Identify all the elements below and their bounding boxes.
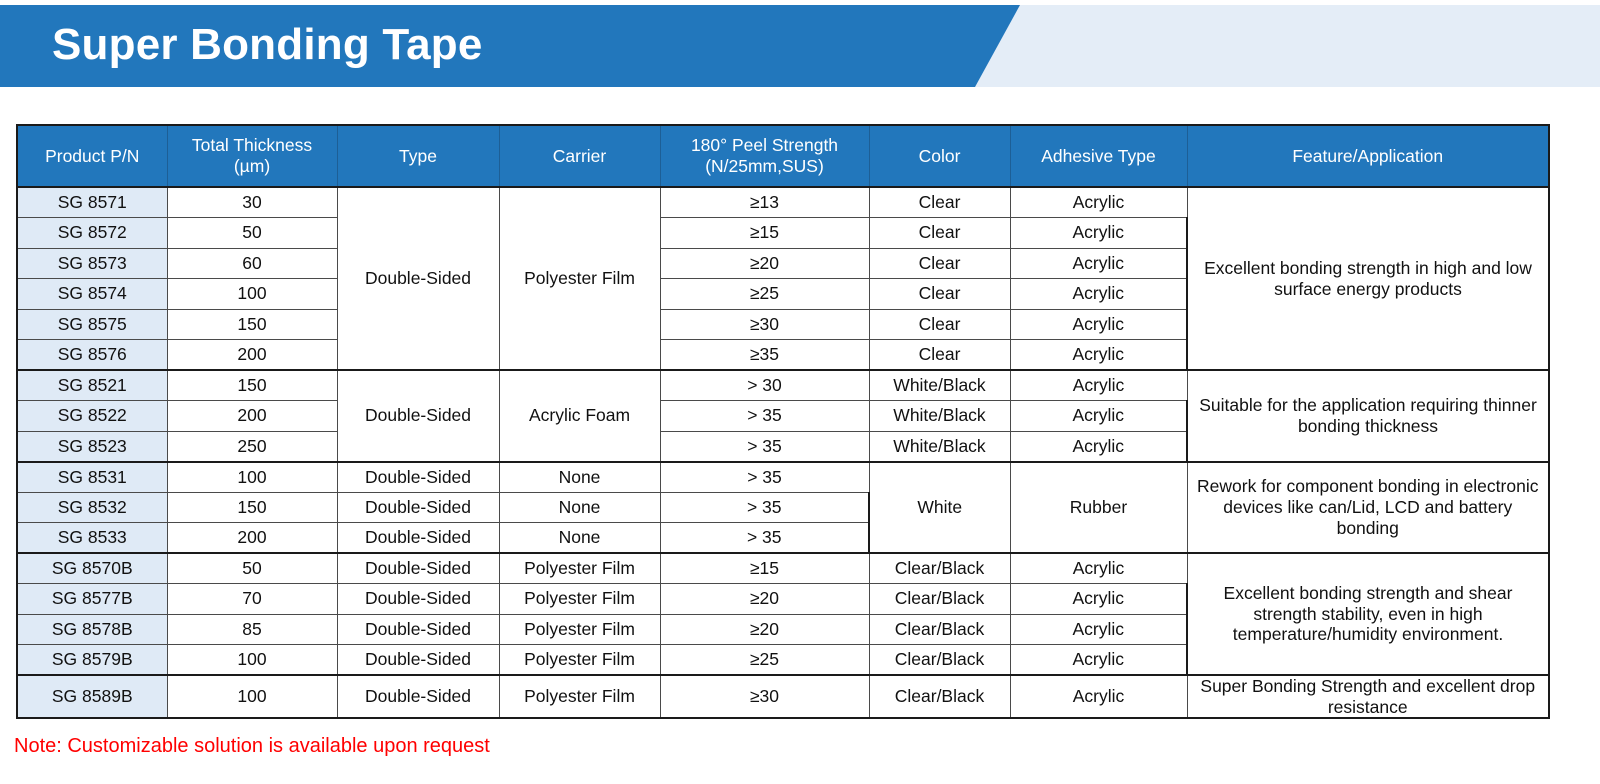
cell-adhesive: Rubber (1010, 462, 1187, 554)
cell-peel-strength: ≥35 (660, 340, 869, 371)
cell-thickness: 85 (167, 614, 337, 645)
cell-product-pn: SG 8573 (17, 248, 167, 279)
cell-product-pn: SG 8572 (17, 218, 167, 249)
cell-type: Double-Sided (337, 370, 499, 462)
column-header-color: Color (869, 125, 1010, 187)
specification-table: Product P/N Total Thickness (µm) Type Ca… (16, 124, 1550, 719)
cell-feature: Excellent bonding strength in high and l… (1187, 187, 1549, 370)
column-header-peel-strength: 180° Peel Strength (N/25mm,SUS) (660, 125, 869, 187)
cell-peel-strength: ≥25 (660, 645, 869, 676)
cell-peel-strength: ≥13 (660, 187, 869, 218)
cell-product-pn: SG 8531 (17, 462, 167, 493)
cell-peel-strength: ≥15 (660, 218, 869, 249)
cell-color: White/Black (869, 431, 1010, 462)
cell-color: Clear/Black (869, 675, 1010, 718)
cell-adhesive: Acrylic (1010, 675, 1187, 718)
cell-color: Clear (869, 279, 1010, 310)
footnote-text: Note: Customizable solution is available… (14, 735, 490, 758)
cell-carrier: Polyester Film (499, 187, 660, 370)
column-header-total-thickness: Total Thickness (µm) (167, 125, 337, 187)
cell-thickness: 250 (167, 431, 337, 462)
cell-product-pn: SG 8522 (17, 401, 167, 432)
cell-peel-strength: > 35 (660, 401, 869, 432)
cell-thickness: 200 (167, 523, 337, 554)
cell-color: White/Black (869, 401, 1010, 432)
cell-adhesive: Acrylic (1010, 584, 1187, 615)
cell-color: Clear/Black (869, 645, 1010, 676)
cell-peel-strength: ≥15 (660, 553, 869, 584)
cell-color: White/Black (869, 370, 1010, 401)
cell-carrier: None (499, 492, 660, 523)
cell-product-pn: SG 8575 (17, 309, 167, 340)
cell-color: Clear/Black (869, 614, 1010, 645)
cell-product-pn: SG 8570B (17, 553, 167, 584)
cell-adhesive: Acrylic (1010, 309, 1187, 340)
cell-thickness: 150 (167, 309, 337, 340)
cell-product-pn: SG 8523 (17, 431, 167, 462)
table-header-row: Product P/N Total Thickness (µm) Type Ca… (17, 125, 1549, 187)
cell-adhesive: Acrylic (1010, 279, 1187, 310)
cell-thickness: 70 (167, 584, 337, 615)
cell-type: Double-Sided (337, 675, 499, 718)
table-body: SG 8571 30 Double-Sided Polyester Film ≥… (17, 187, 1549, 718)
cell-carrier: None (499, 462, 660, 493)
cell-thickness: 50 (167, 553, 337, 584)
cell-thickness: 150 (167, 492, 337, 523)
cell-color: Clear/Black (869, 584, 1010, 615)
cell-adhesive: Acrylic (1010, 370, 1187, 401)
cell-product-pn: SG 8521 (17, 370, 167, 401)
cell-type: Double-Sided (337, 584, 499, 615)
table-row: SG 8571 30 Double-Sided Polyester Film ≥… (17, 187, 1549, 218)
cell-type: Double-Sided (337, 614, 499, 645)
cell-thickness: 100 (167, 675, 337, 718)
cell-feature: Excellent bonding strength and shear str… (1187, 553, 1549, 675)
cell-peel-strength: ≥30 (660, 675, 869, 718)
cell-product-pn: SG 8571 (17, 187, 167, 218)
cell-thickness: 150 (167, 370, 337, 401)
cell-peel-strength: > 30 (660, 370, 869, 401)
cell-color: Clear/Black (869, 553, 1010, 584)
cell-adhesive: Acrylic (1010, 431, 1187, 462)
page-header-banner: Super Bonding Tape (0, 0, 1600, 92)
cell-product-pn: SG 8577B (17, 584, 167, 615)
table-header: Product P/N Total Thickness (µm) Type Ca… (17, 125, 1549, 187)
cell-thickness: 200 (167, 340, 337, 371)
cell-carrier: Polyester Film (499, 553, 660, 584)
cell-color: Clear (869, 187, 1010, 218)
table-row: SG 8570B 50 Double-Sided Polyester Film … (17, 553, 1549, 584)
cell-carrier: Polyester Film (499, 584, 660, 615)
cell-type: Double-Sided (337, 492, 499, 523)
cell-peel-strength: ≥20 (660, 248, 869, 279)
table-row: SG 8531 100 Double-Sided None > 35 White… (17, 462, 1549, 493)
table-row: SG 8521 150 Double-Sided Acrylic Foam > … (17, 370, 1549, 401)
column-header-carrier: Carrier (499, 125, 660, 187)
column-header-adhesive-type: Adhesive Type (1010, 125, 1187, 187)
cell-product-pn: SG 8589B (17, 675, 167, 718)
cell-thickness: 50 (167, 218, 337, 249)
column-header-type: Type (337, 125, 499, 187)
cell-carrier: Polyester Film (499, 614, 660, 645)
cell-thickness: 30 (167, 187, 337, 218)
column-header-product-pn: Product P/N (17, 125, 167, 187)
cell-product-pn: SG 8576 (17, 340, 167, 371)
cell-color: White (869, 462, 1010, 554)
cell-thickness: 60 (167, 248, 337, 279)
page-title: Super Bonding Tape (52, 14, 483, 76)
cell-peel-strength: > 35 (660, 523, 869, 554)
cell-peel-strength: ≥25 (660, 279, 869, 310)
cell-feature: Rework for component bonding in electron… (1187, 462, 1549, 554)
cell-adhesive: Acrylic (1010, 187, 1187, 218)
cell-color: Clear (869, 248, 1010, 279)
specification-table-container: Product P/N Total Thickness (µm) Type Ca… (16, 124, 1548, 719)
cell-product-pn: SG 8578B (17, 614, 167, 645)
cell-adhesive: Acrylic (1010, 553, 1187, 584)
cell-carrier: Polyester Film (499, 645, 660, 676)
cell-adhesive: Acrylic (1010, 248, 1187, 279)
cell-thickness: 100 (167, 462, 337, 493)
cell-adhesive: Acrylic (1010, 218, 1187, 249)
cell-type: Double-Sided (337, 462, 499, 493)
cell-feature: Suitable for the application requiring t… (1187, 370, 1549, 462)
cell-adhesive: Acrylic (1010, 340, 1187, 371)
cell-type: Double-Sided (337, 645, 499, 676)
cell-adhesive: Acrylic (1010, 401, 1187, 432)
cell-adhesive: Acrylic (1010, 614, 1187, 645)
cell-carrier: None (499, 523, 660, 554)
cell-adhesive: Acrylic (1010, 645, 1187, 676)
cell-color: Clear (869, 218, 1010, 249)
cell-product-pn: SG 8574 (17, 279, 167, 310)
cell-type: Double-Sided (337, 553, 499, 584)
cell-thickness: 100 (167, 279, 337, 310)
cell-peel-strength: ≥30 (660, 309, 869, 340)
cell-type: Double-Sided (337, 187, 499, 370)
cell-thickness: 200 (167, 401, 337, 432)
cell-product-pn: SG 8579B (17, 645, 167, 676)
cell-peel-strength: > 35 (660, 462, 869, 493)
cell-peel-strength: > 35 (660, 492, 869, 523)
cell-product-pn: SG 8533 (17, 523, 167, 554)
cell-feature: Super Bonding Strength and excellent dro… (1187, 675, 1549, 718)
cell-peel-strength: ≥20 (660, 614, 869, 645)
cell-color: Clear (869, 309, 1010, 340)
cell-peel-strength: > 35 (660, 431, 869, 462)
cell-carrier: Polyester Film (499, 675, 660, 718)
cell-product-pn: SG 8532 (17, 492, 167, 523)
cell-carrier: Acrylic Foam (499, 370, 660, 462)
cell-thickness: 100 (167, 645, 337, 676)
column-header-feature-application: Feature/Application (1187, 125, 1549, 187)
cell-color: Clear (869, 340, 1010, 371)
cell-type: Double-Sided (337, 523, 499, 554)
table-row: SG 8589B 100 Double-Sided Polyester Film… (17, 675, 1549, 718)
cell-peel-strength: ≥20 (660, 584, 869, 615)
